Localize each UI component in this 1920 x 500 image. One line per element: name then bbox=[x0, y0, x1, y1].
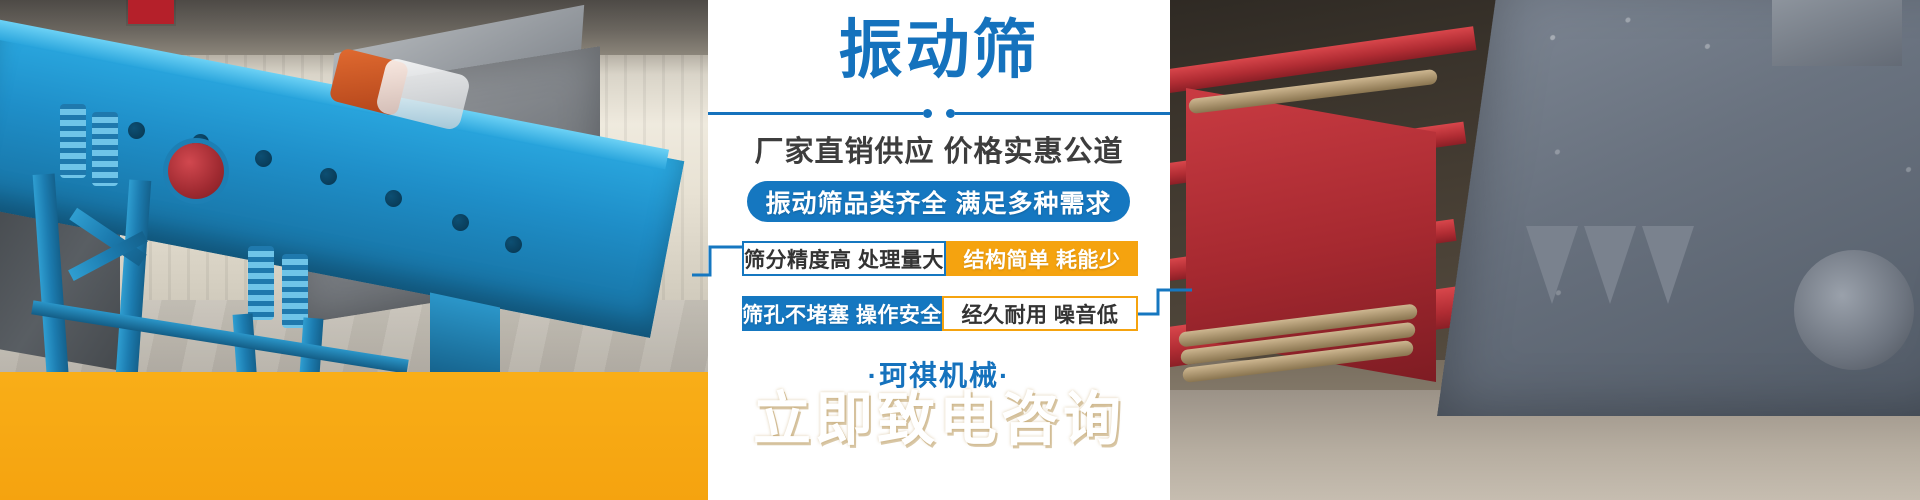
support-spring bbox=[248, 246, 274, 320]
feature-row-2: 筛孔不堵塞 操作安全 经久耐用 噪音低 bbox=[742, 296, 1138, 331]
feature-2-left: 筛孔不堵塞 操作安全 bbox=[742, 296, 942, 331]
drive-wheel bbox=[1794, 250, 1914, 370]
divider-line-left bbox=[708, 112, 923, 115]
deck-bolt bbox=[128, 122, 145, 139]
title-divider bbox=[708, 107, 1170, 119]
right-product-photo bbox=[1168, 0, 1920, 500]
red-drive-drum bbox=[168, 143, 224, 199]
v-bracket bbox=[1526, 226, 1578, 304]
drive-motor-housing bbox=[1772, 0, 1902, 66]
deck-bolt bbox=[505, 236, 522, 253]
connector-elbow-right bbox=[1136, 286, 1192, 322]
connector-elbow-left bbox=[692, 243, 744, 279]
page-title: 振动筛 bbox=[708, 18, 1170, 82]
deck-bolt bbox=[320, 168, 337, 185]
promo-banner: 振动筛 厂家直销供应 价格实惠公道 振动筛品类齐全 满足多种需求 筛分精度高 处… bbox=[0, 0, 1920, 500]
deck-bolt bbox=[452, 214, 469, 231]
divider-line-right bbox=[955, 112, 1170, 115]
highlight-pill: 振动筛品类齐全 满足多种需求 bbox=[747, 181, 1130, 222]
feature-1-right: 结构简单 耗能少 bbox=[946, 241, 1138, 276]
feature-row-1: 筛分精度高 处理量大 结构简单 耗能少 bbox=[742, 241, 1138, 276]
subtitle: 厂家直销供应 价格实惠公道 bbox=[708, 128, 1170, 170]
feature-1-left: 筛分精度高 处理量大 bbox=[742, 241, 946, 276]
call-to-action: 立即致电咨询 bbox=[708, 390, 1170, 451]
divider-dot-left bbox=[923, 109, 932, 118]
v-bracket bbox=[1584, 226, 1636, 304]
deck-bolt bbox=[385, 190, 402, 207]
support-spring bbox=[92, 112, 118, 186]
v-bracket bbox=[1642, 226, 1694, 304]
feature-2-right: 经久耐用 噪音低 bbox=[942, 296, 1138, 331]
support-spring bbox=[60, 104, 86, 178]
red-wall-banner bbox=[128, 0, 174, 24]
divider-dot-right bbox=[946, 109, 955, 118]
deck-bolt bbox=[255, 150, 272, 167]
